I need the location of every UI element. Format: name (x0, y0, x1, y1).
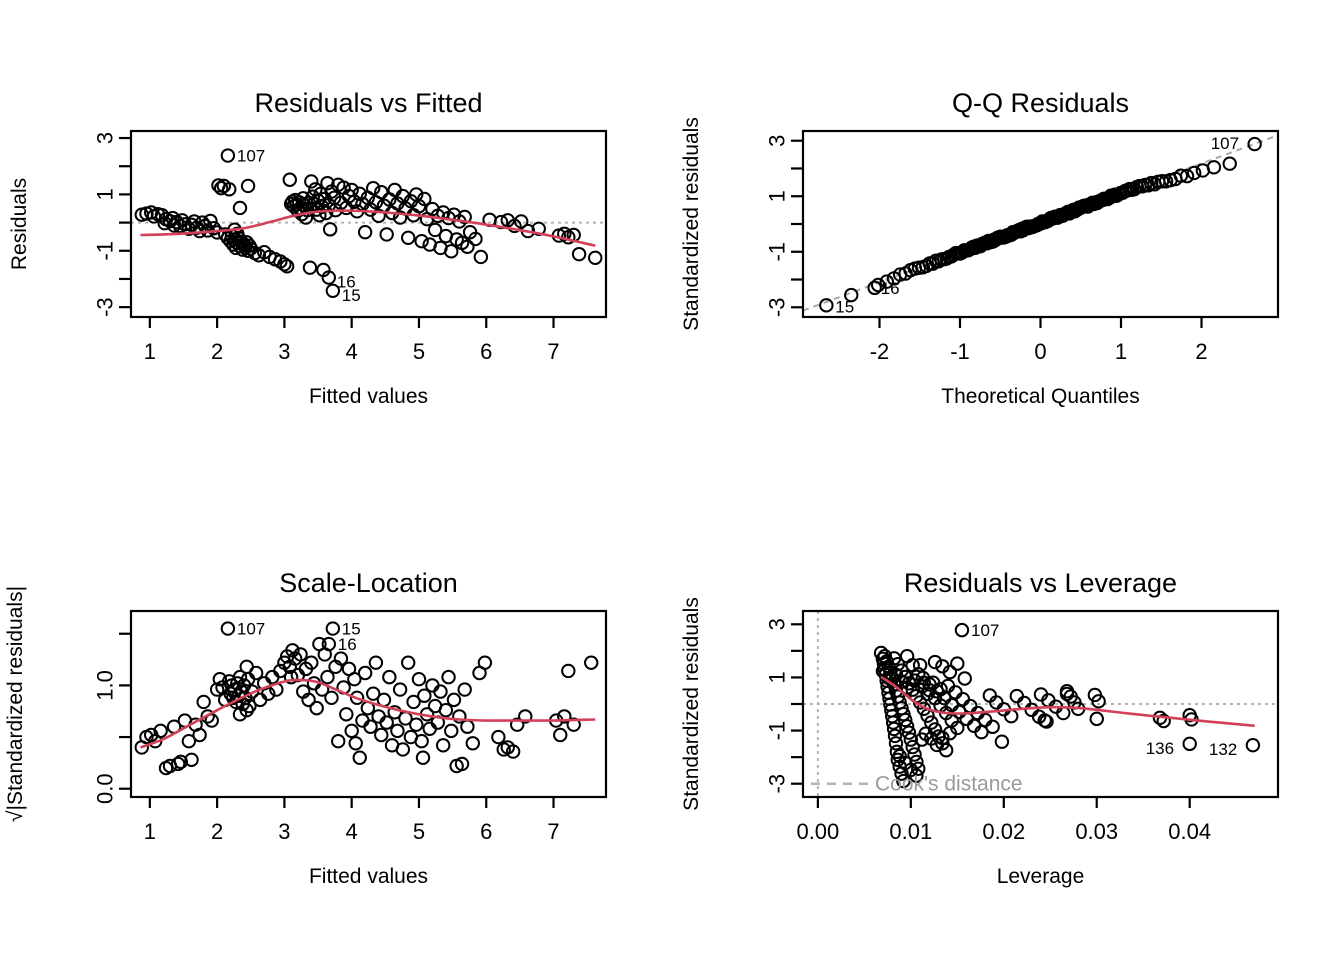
data-point (434, 685, 446, 697)
data-point (1188, 167, 1200, 179)
x-tick-label: 5 (413, 819, 425, 844)
x-tick-label: 0 (1034, 339, 1046, 364)
y-tick-label: 1 (764, 671, 789, 683)
data-point (222, 622, 234, 634)
y-tick-label: 3 (764, 135, 789, 147)
data-point (554, 729, 566, 741)
panel-scale-location: Scale-Location√|Standardized residuals|F… (0, 480, 672, 960)
data-point (424, 723, 436, 735)
data-point (1224, 158, 1236, 170)
point-label: 107 (971, 621, 999, 640)
data-point (380, 228, 392, 240)
data-point (492, 731, 504, 743)
y-tick-label: -1 (92, 241, 117, 261)
x-tick-label: 2 (211, 339, 223, 364)
y-tick-label: 3 (764, 618, 789, 630)
x-tick-label: 7 (547, 339, 559, 364)
y-tick-label: -1 (764, 721, 789, 741)
data-point (1091, 713, 1103, 725)
point-label: 107 (1211, 134, 1239, 153)
data-point (1208, 161, 1220, 173)
point-label: 132 (1209, 740, 1237, 759)
point-label: 16 (338, 635, 357, 654)
x-tick-label: 0.00 (796, 819, 839, 844)
data-point (459, 683, 471, 695)
x-tick-label: 0.03 (1075, 819, 1118, 844)
y-tick-label: -3 (764, 298, 789, 318)
point-label: 107 (237, 620, 265, 639)
data-point (402, 232, 414, 244)
data-point (397, 743, 409, 755)
data-point (475, 251, 487, 263)
data-point (445, 725, 457, 737)
x-tick-label: 0.01 (889, 819, 932, 844)
panel-title: Residuals vs Leverage (904, 568, 1177, 598)
x-axis-label: Fitted values (309, 865, 428, 888)
data-point (442, 671, 454, 683)
data-point (254, 694, 266, 706)
x-tick-label: 2 (211, 819, 223, 844)
data-point (417, 752, 429, 764)
data-point (340, 708, 352, 720)
data-point (415, 235, 427, 247)
data-point (589, 252, 601, 264)
data-point (445, 245, 457, 257)
data-point (324, 223, 336, 235)
x-tick-label: 1 (144, 339, 156, 364)
data-point (868, 282, 880, 294)
data-point (979, 714, 991, 726)
point-label: 15 (835, 297, 854, 316)
y-axis-label: Standardized residuals (680, 117, 703, 331)
data-point (461, 721, 473, 733)
data-point (266, 671, 278, 683)
data-point (370, 656, 382, 668)
data-point (996, 736, 1008, 748)
data-point (354, 752, 366, 764)
data-point (426, 679, 438, 691)
data-point (372, 710, 384, 722)
data-point (1248, 138, 1260, 150)
y-tick-label: -3 (764, 774, 789, 794)
data-points (136, 622, 598, 774)
data-point (410, 718, 422, 730)
point-label: 136 (1146, 739, 1174, 758)
data-point (1011, 690, 1023, 702)
x-axis-label: Fitted values (309, 385, 428, 408)
y-axis-label: √|Standardized residuals| (4, 586, 27, 822)
panel-title: Scale-Location (279, 568, 458, 598)
x-tick-label: 5 (413, 339, 425, 364)
diagnostic-plot-figure: Residuals vs FittedResidualsFitted value… (0, 0, 1344, 960)
data-point (323, 638, 335, 650)
cooks-distance-label: Cook's distance (875, 773, 1023, 796)
data-point (356, 714, 368, 726)
y-axis-label: Residuals (8, 178, 31, 270)
data-point (1005, 710, 1017, 722)
data-point (383, 671, 395, 683)
data-point (951, 657, 963, 669)
data-point (284, 174, 296, 186)
data-point (573, 248, 585, 260)
data-point (332, 735, 344, 747)
data-point (585, 656, 597, 668)
x-tick-label: 3 (278, 819, 290, 844)
x-axis-label: Theoretical Quantiles (941, 385, 1139, 408)
plot-frame (131, 611, 606, 797)
y-axis-label: Standardized residuals (680, 597, 703, 811)
x-tick-label: 4 (346, 339, 358, 364)
x-tick-label: 2 (1195, 339, 1207, 364)
data-point (964, 700, 976, 712)
data-point (402, 656, 414, 668)
data-point (193, 729, 205, 741)
point-label: 107 (237, 147, 265, 166)
y-tick-label: -1 (764, 242, 789, 262)
y-tick-label: 0.0 (92, 773, 117, 804)
data-point (956, 624, 968, 636)
data-point (325, 692, 337, 704)
data-point (448, 694, 460, 706)
panel-qq-residuals: Q-Q ResidualsStandardized residualsTheor… (672, 0, 1344, 480)
x-axis-label: Leverage (997, 865, 1085, 888)
data-point (413, 673, 425, 685)
data-point (391, 725, 403, 737)
point-label: 15 (342, 286, 361, 305)
x-tick-label: 1 (1115, 339, 1127, 364)
x-tick-label: -2 (870, 339, 890, 364)
data-point (359, 667, 371, 679)
data-point (234, 202, 246, 214)
data-point (1247, 739, 1259, 751)
data-point (394, 683, 406, 695)
x-tick-label: 3 (278, 339, 290, 364)
point-label: 16 (881, 279, 900, 298)
data-point (479, 656, 491, 668)
data-point (467, 737, 479, 749)
data-point (1025, 704, 1037, 716)
y-tick-label: 3 (92, 132, 117, 144)
data-point (197, 696, 209, 708)
data-point (901, 650, 913, 662)
panel-residuals-vs-fitted: Residuals vs FittedResidualsFitted value… (0, 0, 672, 480)
data-point (437, 739, 449, 751)
data-point (359, 226, 371, 238)
data-point (1183, 738, 1195, 750)
y-tick-label: 1 (764, 190, 789, 202)
data-point (310, 702, 322, 714)
panel-title: Q-Q Residuals (952, 88, 1129, 118)
data-point (327, 622, 339, 634)
panel-title: Residuals vs Fitted (254, 88, 482, 118)
x-tick-label: 7 (547, 819, 559, 844)
data-point (914, 659, 926, 671)
y-tick-label: 1 (92, 188, 117, 200)
data-point (242, 180, 254, 192)
x-tick-label: -1 (950, 339, 970, 364)
x-tick-label: 0.02 (982, 819, 1025, 844)
data-point (222, 149, 234, 161)
data-point (389, 184, 401, 196)
data-point (350, 737, 362, 749)
x-tick-label: 4 (346, 819, 358, 844)
data-point (415, 735, 427, 747)
y-tick-label: -3 (92, 297, 117, 317)
data-point (957, 693, 969, 705)
x-tick-label: 0.04 (1168, 819, 1211, 844)
y-tick-label: 1.0 (92, 670, 117, 701)
x-tick-label: 6 (480, 339, 492, 364)
data-point (345, 725, 357, 737)
x-tick-label: 6 (480, 819, 492, 844)
data-point (375, 729, 387, 741)
data-point (986, 721, 998, 733)
data-points (875, 624, 1259, 787)
data-point (959, 672, 971, 684)
panel-residuals-vs-leverage: Residuals vs LeverageStandardized residu… (672, 480, 1344, 960)
data-point (304, 261, 316, 273)
x-tick-label: 1 (144, 819, 156, 844)
data-point (562, 665, 574, 677)
data-point (241, 661, 253, 673)
